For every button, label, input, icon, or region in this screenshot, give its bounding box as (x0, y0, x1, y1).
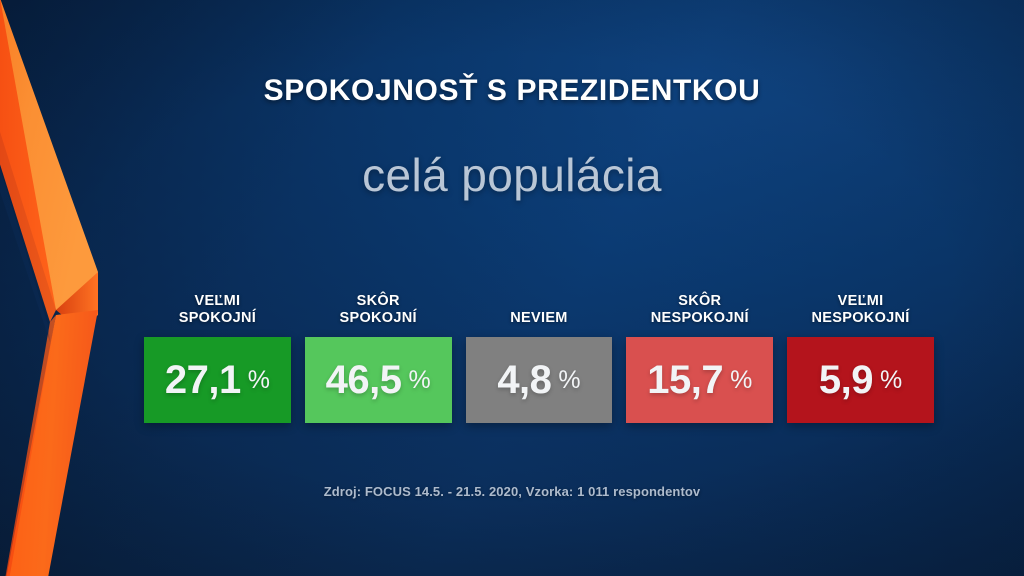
stat-label-line1: VEĽMI (144, 293, 291, 311)
stat-label-line2: NESPOKOJNÍ (626, 310, 773, 328)
stat-label-line2: NESPOKOJNÍ (787, 310, 934, 328)
stat-label-line1: SKÔR (626, 293, 773, 311)
stat-value: 15,7 (647, 360, 723, 400)
stat-label-line1: SKÔR (305, 293, 452, 311)
stat-item: SKÔR NESPOKOJNÍ 15,7 % (626, 292, 773, 423)
infographic-slide: SPOKOJNOSŤ S PREZIDENTKOU celá populácia… (0, 0, 1024, 576)
stat-label-line2: SPOKOJNÍ (305, 310, 452, 328)
percent-sign: % (409, 368, 431, 393)
stat-label: SKÔR SPOKOJNÍ (305, 292, 452, 328)
source-note: Zdroj: FOCUS 14.5. - 21.5. 2020, Vzorka:… (0, 484, 1024, 499)
stat-value: 46,5 (326, 360, 402, 400)
stat-label: VEĽMI SPOKOJNÍ (144, 292, 291, 328)
slide-content: SPOKOJNOSŤ S PREZIDENTKOU celá populácia… (0, 0, 1024, 576)
percent-sign: % (558, 368, 580, 393)
stat-box: 46,5 % (305, 337, 452, 423)
stat-box: 27,1 % (144, 337, 291, 423)
stat-label-line2: SPOKOJNÍ (144, 310, 291, 328)
stat-label: NEVIEM (466, 292, 613, 328)
stat-label-line2: NEVIEM (466, 310, 613, 328)
stat-box: 4,8 % (466, 337, 613, 423)
percent-sign: % (730, 368, 752, 393)
percent-sign: % (880, 368, 902, 393)
stat-box: 5,9 % (787, 337, 934, 423)
stat-value: 5,9 (819, 360, 873, 400)
stat-row: VEĽMI SPOKOJNÍ 27,1 % SKÔR SPOKOJNÍ 46,5… (144, 292, 934, 423)
percent-sign: % (248, 368, 270, 393)
stat-box: 15,7 % (626, 337, 773, 423)
stat-item: SKÔR SPOKOJNÍ 46,5 % (305, 292, 452, 423)
page-title: SPOKOJNOSŤ S PREZIDENTKOU (0, 74, 1024, 108)
stat-item: NEVIEM 4,8 % (466, 292, 613, 423)
stat-label: VEĽMI NESPOKOJNÍ (787, 292, 934, 328)
page-subtitle: celá populácia (0, 148, 1024, 202)
stat-label-line1: VEĽMI (787, 293, 934, 311)
stat-value: 27,1 (165, 360, 241, 400)
stat-item: VEĽMI NESPOKOJNÍ 5,9 % (787, 292, 934, 423)
stat-item: VEĽMI SPOKOJNÍ 27,1 % (144, 292, 291, 423)
stat-label: SKÔR NESPOKOJNÍ (626, 292, 773, 328)
stat-value: 4,8 (497, 360, 551, 400)
